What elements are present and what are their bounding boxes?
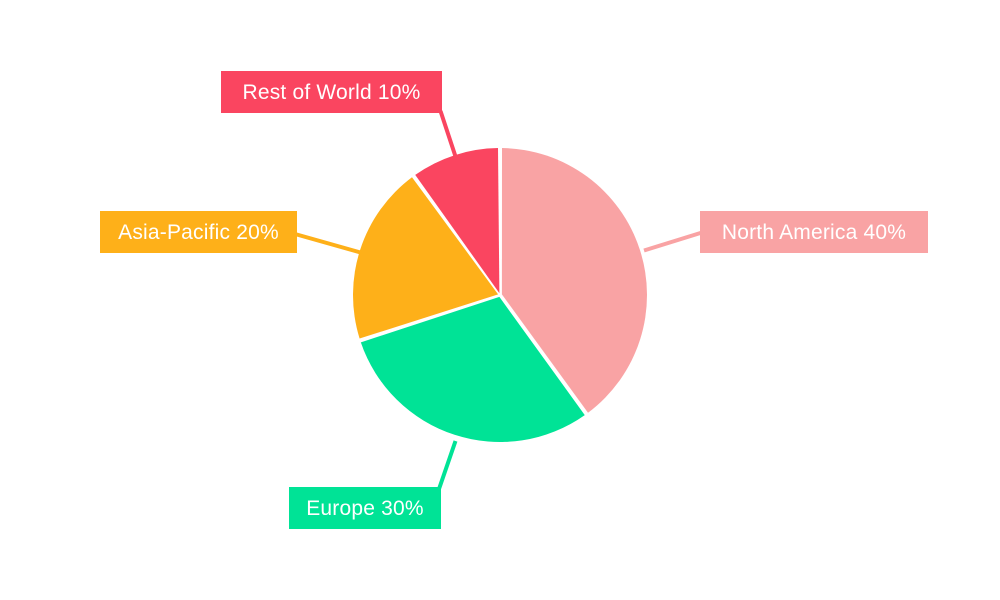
pie-label-rest-of-world-text: Rest of World 10% — [242, 82, 420, 103]
pie-label-rest-of-world[interactable]: Rest of World 10% — [221, 71, 442, 113]
pie-label-north-america-text: North America 40% — [722, 222, 906, 243]
pie-label-north-america[interactable]: North America 40% — [700, 211, 928, 253]
pie-slices — [353, 148, 647, 442]
leader-line-north-america — [644, 233, 702, 251]
pie-label-europe-text: Europe 30% — [306, 498, 424, 519]
pie-label-europe[interactable]: Europe 30% — [289, 487, 441, 529]
pie-chart-svg — [0, 0, 1000, 600]
leader-line-rest-of-world — [441, 111, 458, 161]
leader-line-asia-pacific — [295, 234, 361, 253]
pie-label-asia-pacific[interactable]: Asia-Pacific 20% — [100, 211, 297, 253]
pie-chart-canvas: North America 40% Europe 30% Asia-Pacifi… — [0, 0, 1000, 600]
pie-label-asia-pacific-text: Asia-Pacific 20% — [118, 222, 279, 243]
leader-line-europe — [439, 441, 456, 489]
